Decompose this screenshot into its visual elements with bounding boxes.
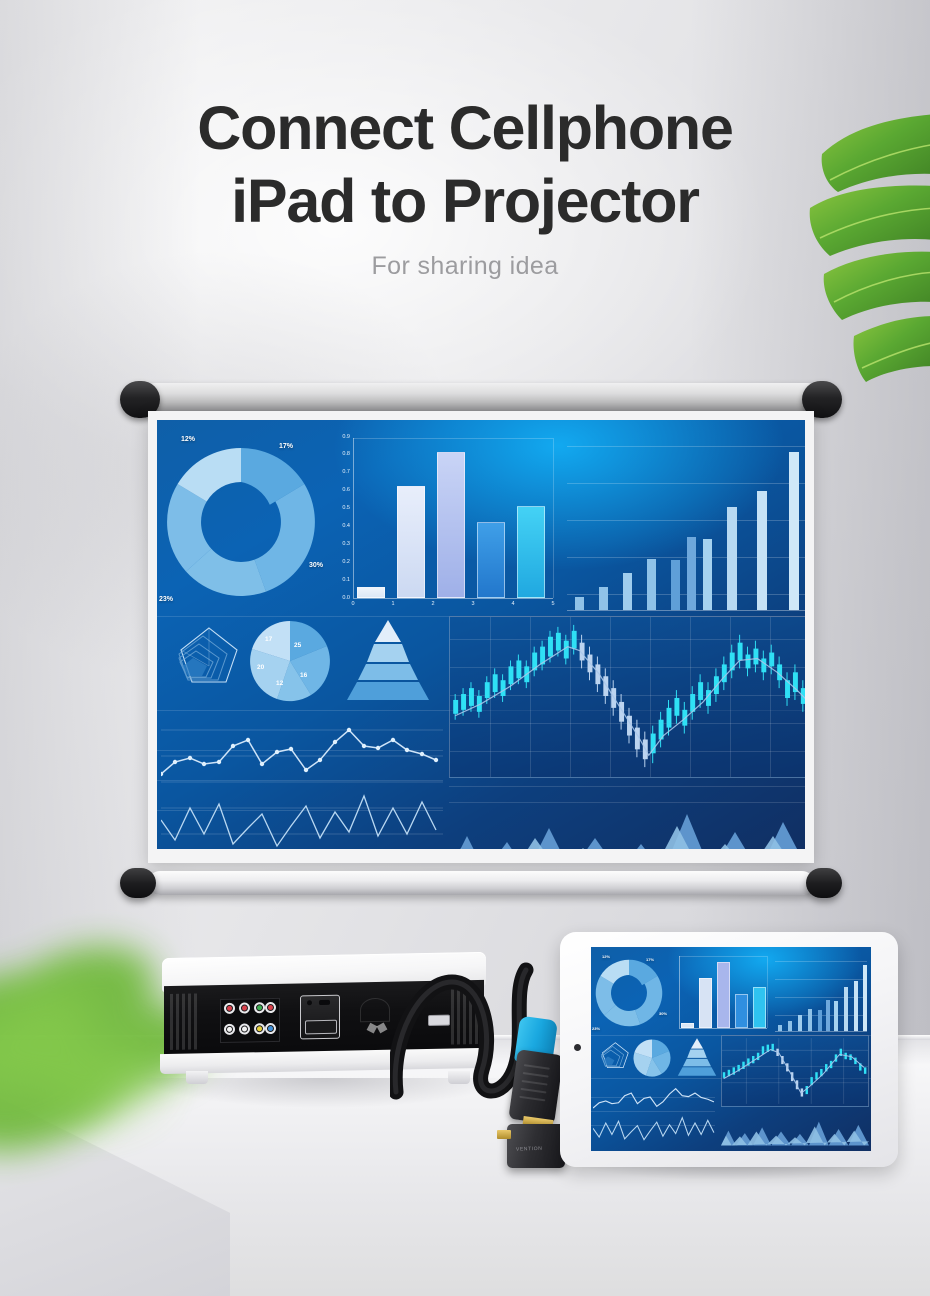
col-1	[599, 587, 608, 610]
bar-xtick-0: 0	[346, 601, 360, 607]
projection-screen: 12% 17% 30% 23% 0.0 0.1 0.2 0.3 0.4 0.5 …	[120, 383, 842, 895]
bar-xtick-1: 1	[386, 601, 400, 607]
pie-chart-mirror	[633, 1039, 671, 1077]
power-socket	[300, 995, 340, 1040]
bar-2	[437, 452, 465, 598]
bar-chart-mirror	[669, 953, 769, 1037]
col-9	[789, 452, 799, 610]
pie-label-16: 16	[300, 672, 307, 679]
col-7	[727, 507, 737, 610]
pyramid-chart	[341, 618, 435, 702]
page-title: Connect Cellphone iPad to Projector	[0, 92, 930, 238]
pie-label-17: 17	[265, 636, 272, 643]
bar-ytick-8: 0.8	[329, 451, 350, 457]
donut-mirror-label-30: 30%	[659, 1011, 667, 1016]
rca-port-yellow	[254, 1023, 265, 1034]
line-chart-mirror	[593, 1081, 717, 1143]
radar-chart-mirror	[595, 1037, 631, 1077]
growth-column-chart	[567, 438, 805, 616]
bar-1	[397, 486, 425, 598]
rca-port-white-2	[239, 1023, 250, 1034]
rca-port-white-1	[224, 1024, 235, 1035]
micro-hdmi-gold-contact	[497, 1130, 511, 1139]
main-bar-chart: 0.0 0.1 0.2 0.3 0.4 0.5 0.6 0.7 0.8 0.9 …	[329, 432, 557, 618]
candlestick-chart-mirror	[721, 1035, 869, 1107]
pie-label-12: 12	[276, 680, 283, 687]
foreground-plant-blur-2	[0, 940, 170, 1140]
bar-3	[477, 522, 505, 598]
col-0	[575, 597, 584, 610]
projector-foot-left	[186, 1071, 208, 1084]
tablet-screen[interactable]: 12% 17% 30% 23%	[591, 947, 871, 1151]
bar-ytick-7: 0.7	[329, 469, 350, 475]
tablet-camera-icon	[574, 1044, 581, 1051]
donut-label-12: 12%	[181, 436, 195, 443]
bar-ytick-2: 0.2	[329, 559, 350, 565]
bar-ytick-5: 0.5	[329, 505, 350, 511]
tablet-device[interactable]: 12% 17% 30% 23%	[560, 932, 898, 1167]
donut-label-23: 23%	[159, 596, 173, 603]
screen-weight-bar	[148, 871, 814, 895]
col-2	[623, 573, 632, 610]
bar-xtick-5: 5	[546, 601, 560, 607]
col-5	[687, 537, 696, 610]
bar-4	[517, 506, 545, 598]
page-subtitle: For sharing idea	[0, 252, 930, 281]
bar-ytick-3: 0.3	[329, 541, 350, 547]
radar-pentagon-chart	[165, 616, 243, 702]
donut-chart-mirror	[593, 953, 665, 1033]
pie-label-25: 25	[294, 642, 301, 649]
bar-xtick-3: 3	[466, 601, 480, 607]
weight-bar-cap-left	[120, 868, 156, 898]
bar-ytick-1: 0.1	[329, 577, 350, 583]
bar-ytick-4: 0.4	[329, 523, 350, 529]
pyramid-chart-mirror	[675, 1037, 719, 1077]
col-6	[703, 539, 712, 610]
screen-image-area: 12% 17% 30% 23% 0.0 0.1 0.2 0.3 0.4 0.5 …	[157, 420, 805, 849]
mountain-chart	[449, 792, 805, 849]
col-8	[757, 491, 767, 610]
micro-hdmi-adapter: VENTION	[507, 1124, 565, 1168]
rca-port-red-1	[224, 1003, 235, 1014]
small-pie-chart	[249, 620, 331, 702]
donut-label-17: 17%	[279, 443, 293, 450]
dashboard-mirror: 12% 17% 30% 23%	[591, 947, 871, 1151]
bar-xtick-4: 4	[506, 601, 520, 607]
donut-chart	[161, 434, 321, 610]
donut-mirror-label-12: 12%	[602, 954, 610, 959]
rca-port-green	[254, 1002, 265, 1013]
donut-mirror-label-17: 17%	[646, 957, 654, 962]
col-3	[647, 559, 656, 610]
bar-xtick-2: 2	[426, 601, 440, 607]
pie-label-20: 20	[257, 664, 264, 671]
bar-0	[357, 587, 385, 598]
candlestick-chart	[449, 616, 805, 778]
dashboard-big: 12% 17% 30% 23% 0.0 0.1 0.2 0.3 0.4 0.5 …	[157, 420, 805, 849]
headline-line-2: iPad to Projector	[0, 165, 930, 238]
connector-body	[508, 1049, 563, 1125]
column-chart-mirror	[775, 957, 867, 1035]
brand-label: VENTION	[516, 1145, 556, 1152]
rca-port-blue	[265, 1023, 276, 1034]
mountain-chart-mirror	[721, 1109, 869, 1149]
bar-ytick-6: 0.6	[329, 487, 350, 493]
dual-line-chart	[161, 716, 443, 849]
bar-ytick-9: 0.9	[329, 434, 350, 440]
rca-port-red-2	[239, 1002, 250, 1013]
donut-mirror-label-23: 23%	[592, 1026, 600, 1031]
screen-canvas-frame: 12% 17% 30% 23% 0.0 0.1 0.2 0.3 0.4 0.5 …	[148, 411, 814, 863]
weight-bar-cap-right	[806, 868, 842, 898]
rca-port-red-3	[265, 1002, 276, 1013]
headline-line-1: Connect Cellphone	[197, 94, 732, 162]
col-4	[671, 560, 680, 610]
donut-label-30: 30%	[309, 562, 323, 569]
